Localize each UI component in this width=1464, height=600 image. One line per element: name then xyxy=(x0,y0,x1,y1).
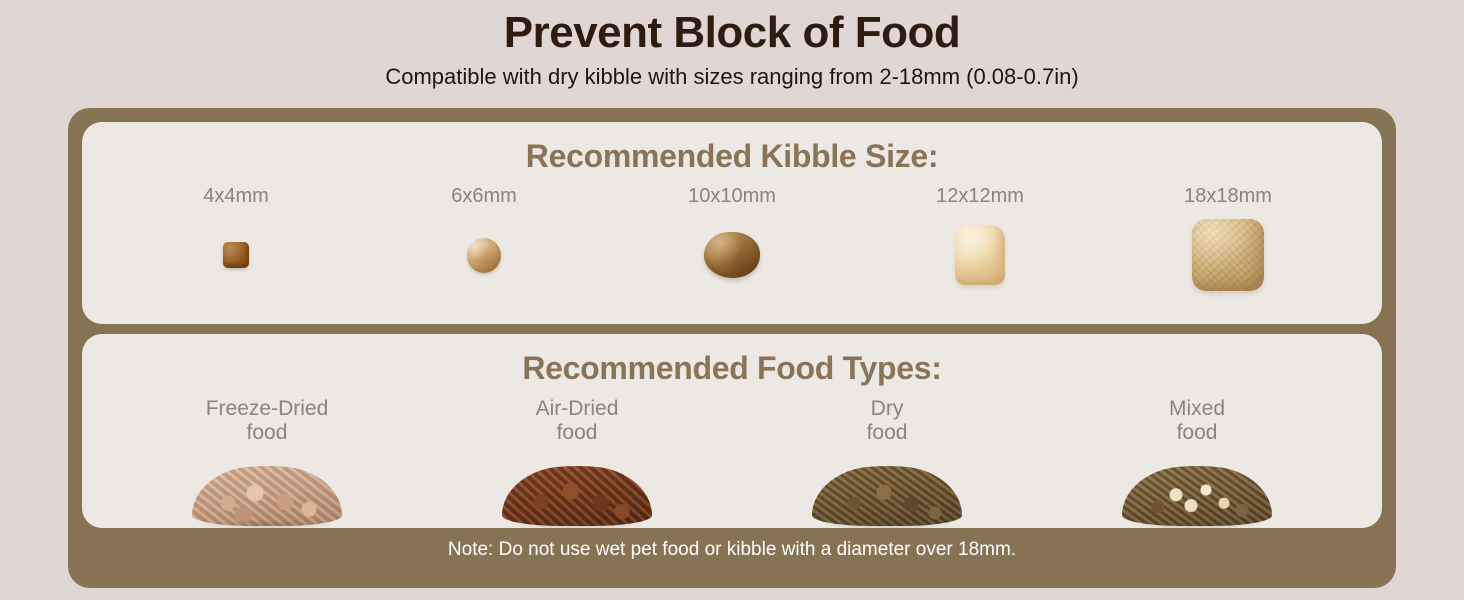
kibble-label-6x6: 6x6mm xyxy=(451,185,517,207)
footer-note: Note: Do not use wet pet food or kibble … xyxy=(82,528,1382,588)
large-textured-cube-kibble-icon xyxy=(1192,219,1264,291)
round-nugget-kibble-icon xyxy=(704,232,760,278)
pile-body xyxy=(1122,466,1272,526)
kibble-swatch-wrap-12x12 xyxy=(955,217,1005,293)
food-type-item-mixed: Mixed food xyxy=(1042,397,1352,526)
food-type-item-freeze-dried: Freeze-Dried food xyxy=(112,397,422,526)
pile-body xyxy=(812,466,962,526)
kibble-item-4x4: 4x4mm xyxy=(112,185,360,293)
kibble-label-4x4: 4x4mm xyxy=(203,185,269,207)
food-types-items: Freeze-Dried food Air-Dried food xyxy=(82,397,1382,526)
kibble-label-12x12: 12x12mm xyxy=(936,185,1024,207)
pale-cube-kibble-icon xyxy=(955,225,1005,285)
infographic-root: Prevent Block of Food Compatible with dr… xyxy=(0,0,1464,600)
food-type-label-air-dried: Air-Dried food xyxy=(536,397,619,444)
kibble-label-18x18: 18x18mm xyxy=(1184,185,1272,207)
small-square-kibble-icon xyxy=(223,242,249,268)
food-type-image-wrap-dry xyxy=(812,454,962,526)
food-type-item-air-dried: Air-Dried food xyxy=(422,397,732,526)
kibble-label-10x10: 10x10mm xyxy=(688,185,776,207)
kibble-size-card: Recommended Kibble Size: 4x4mm 6x6mm 10x… xyxy=(82,122,1382,324)
pile-body xyxy=(502,466,652,526)
kibble-item-10x10: 10x10mm xyxy=(608,185,856,293)
food-type-label-mixed: Mixed food xyxy=(1169,397,1225,444)
kibble-size-items: 4x4mm 6x6mm 10x10mm xyxy=(82,185,1382,293)
freeze-dried-food-pile-icon xyxy=(192,466,342,526)
content-frame: Recommended Kibble Size: 4x4mm 6x6mm 10x… xyxy=(68,108,1396,588)
round-disc-kibble-icon xyxy=(467,238,501,273)
food-type-item-dry: Dry food xyxy=(732,397,1042,526)
kibble-swatch-wrap-10x10 xyxy=(704,217,760,293)
page-title: Prevent Block of Food xyxy=(0,8,1464,59)
mixed-food-pile-icon xyxy=(1122,466,1272,526)
food-type-image-wrap-mixed xyxy=(1122,454,1272,526)
kibble-size-title: Recommended Kibble Size: xyxy=(82,122,1382,175)
food-types-card: Recommended Food Types: Freeze-Dried foo… xyxy=(82,334,1382,528)
food-type-image-wrap-air-dried xyxy=(502,454,652,526)
air-dried-food-pile-icon xyxy=(502,466,652,526)
dry-food-pile-icon xyxy=(812,466,962,526)
page-subtitle: Compatible with dry kibble with sizes ra… xyxy=(0,65,1464,89)
food-types-title: Recommended Food Types: xyxy=(82,334,1382,387)
kibble-swatch-wrap-18x18 xyxy=(1192,217,1264,293)
kibble-swatch-wrap-4x4 xyxy=(223,217,249,293)
kibble-item-18x18: 18x18mm xyxy=(1104,185,1352,293)
kibble-swatch-wrap-6x6 xyxy=(467,217,501,293)
pile-body xyxy=(192,466,342,526)
kibble-item-6x6: 6x6mm xyxy=(360,185,608,293)
header: Prevent Block of Food Compatible with dr… xyxy=(0,0,1464,89)
food-type-label-freeze-dried: Freeze-Dried food xyxy=(206,397,329,444)
kibble-item-12x12: 12x12mm xyxy=(856,185,1104,293)
food-type-label-dry: Dry food xyxy=(867,397,908,444)
food-type-image-wrap-freeze-dried xyxy=(192,454,342,526)
